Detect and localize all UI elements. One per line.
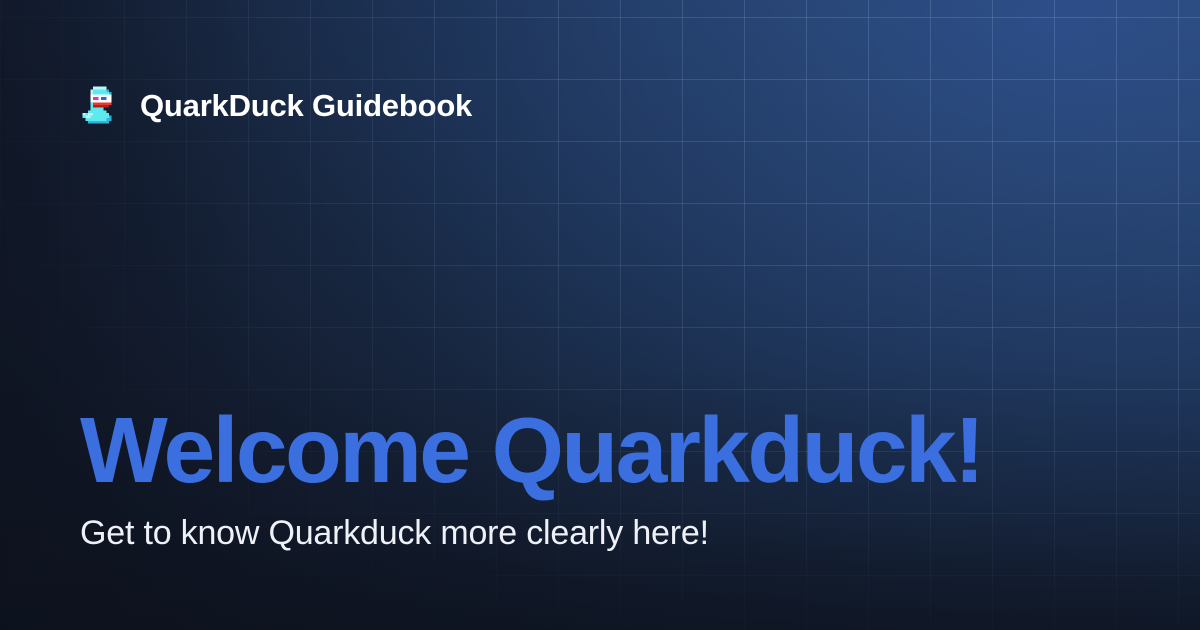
page-subtitle: Get to know Quarkduck more clearly here! [80, 513, 982, 554]
brand-header: QuarkDuck Guidebook [80, 84, 472, 126]
hero-block: Welcome Quarkduck! Get to know Quarkduck… [80, 402, 982, 554]
og-banner: QuarkDuck Guidebook Welcome Quarkduck! G… [0, 0, 1200, 630]
brand-title: QuarkDuck Guidebook [140, 90, 472, 121]
page-title: Welcome Quarkduck! [80, 402, 982, 499]
pixel-duck-icon [80, 84, 122, 126]
